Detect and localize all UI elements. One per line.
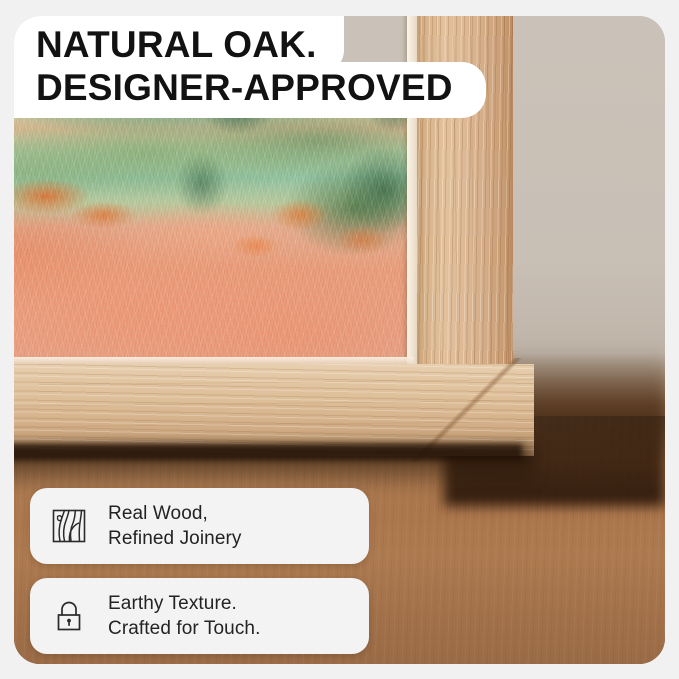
feature-badge-earthy-texture[interactable]: Earthy Texture. Crafted for Touch. [30, 578, 369, 654]
badge-line-2: Crafted for Touch. [108, 616, 260, 641]
wood-grain-icon [48, 505, 90, 547]
headline-text: NATURAL OAK. DESIGNER-APPROVED [36, 24, 453, 110]
headline-line-1: NATURAL OAK. [36, 24, 453, 67]
badge-line-2: Refined Joinery [108, 526, 242, 551]
headline-line-2: DESIGNER-APPROVED [36, 67, 453, 110]
badge-line-1: Real Wood, [108, 501, 242, 526]
padlock-icon [48, 595, 90, 637]
product-photo-card: NATURAL OAK. DESIGNER-APPROVED [14, 16, 665, 664]
feature-badge-list: Real Wood, Refined Joinery Earthy Textur… [30, 488, 370, 664]
feature-badge-real-wood[interactable]: Real Wood, Refined Joinery [30, 488, 369, 564]
feature-badge-real-wood-text: Real Wood, Refined Joinery [108, 501, 242, 551]
product-image-stage: NATURAL OAK. DESIGNER-APPROVED [0, 0, 679, 679]
feature-badge-earthy-texture-text: Earthy Texture. Crafted for Touch. [108, 591, 260, 641]
badge-line-1: Earthy Texture. [108, 591, 260, 616]
frame-drop-shadow [14, 446, 534, 490]
